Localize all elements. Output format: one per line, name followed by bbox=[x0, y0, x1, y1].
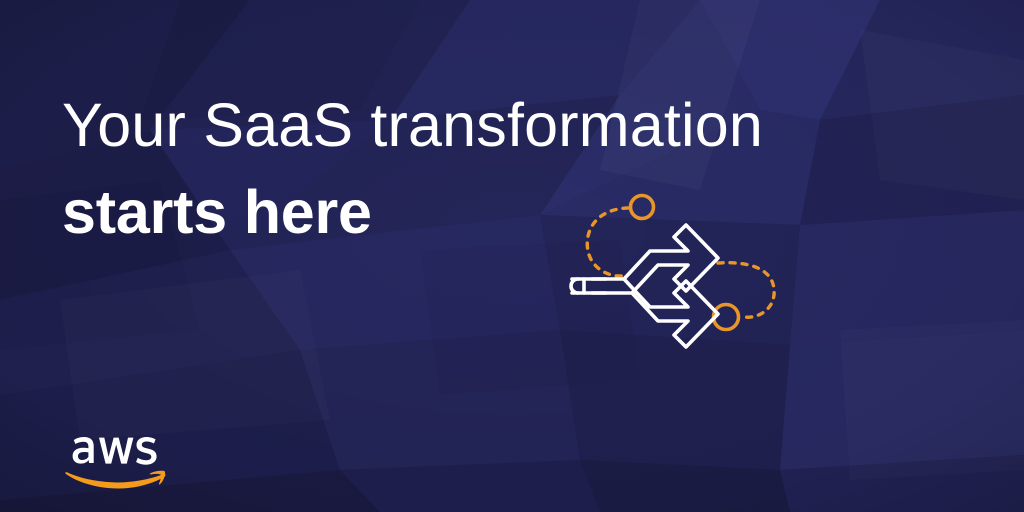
aws-wordmark bbox=[73, 437, 157, 465]
dashed-path-top bbox=[587, 208, 628, 276]
dashed-path-bottom bbox=[718, 263, 774, 318]
aws-saas-banner: Your SaaS transformation starts here bbox=[0, 0, 1024, 512]
aws-logo bbox=[60, 412, 176, 490]
aws-swoosh-icon bbox=[65, 471, 165, 489]
arrow-upper bbox=[584, 225, 718, 293]
dashed-endpoint-circle-top bbox=[631, 196, 654, 219]
headline-line-1: Your SaaS transformation bbox=[62, 82, 763, 169]
arrow-trunk-left-cap bbox=[571, 279, 578, 293]
saas-transformation-arrows-icon bbox=[566, 183, 802, 351]
